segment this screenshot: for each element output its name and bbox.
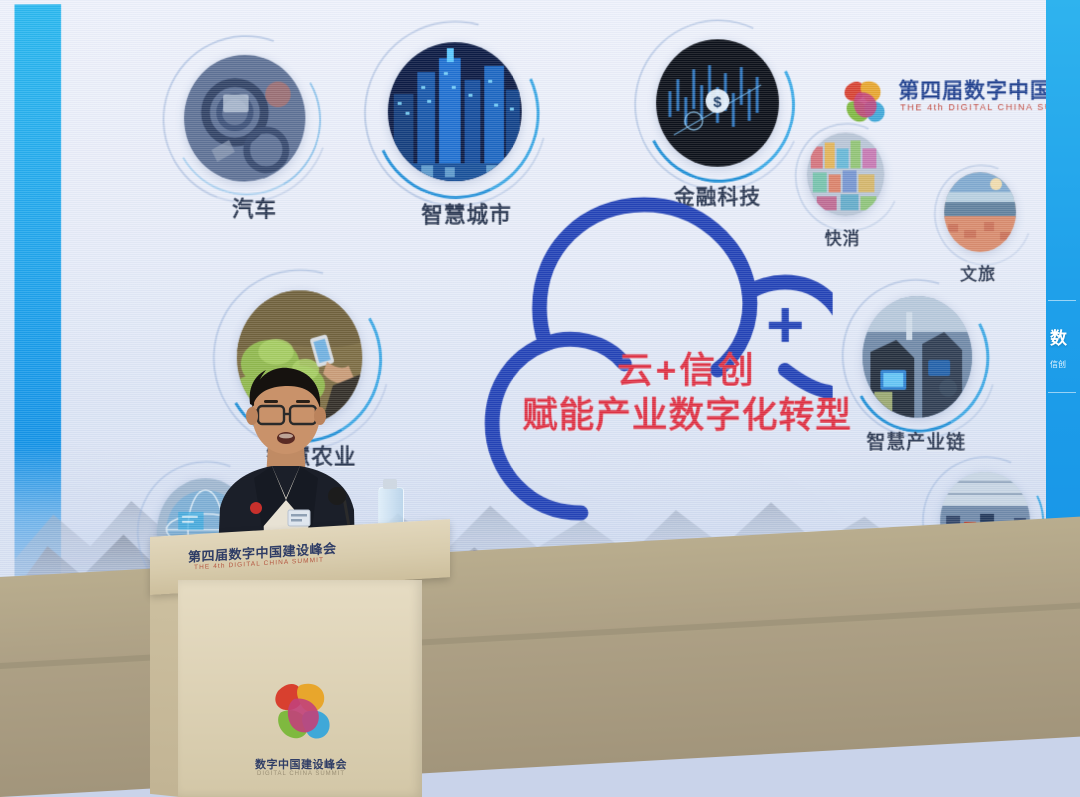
podium-side-panel bbox=[150, 569, 180, 797]
right-panel-subtitle: 信创 bbox=[1050, 360, 1066, 369]
podium-logo-en: DIGITAL CHINA SUMMIT bbox=[226, 771, 376, 777]
node-image-industry-chain bbox=[862, 296, 972, 418]
node-image-automotive bbox=[184, 55, 305, 182]
node-label: 汽车 bbox=[157, 191, 353, 223]
podium-brush-mark-icon bbox=[262, 672, 340, 750]
podium-body: 数字中国建设峰会 DIGITAL CHINA SUMMIT bbox=[178, 580, 422, 797]
right-panel-title: 数 bbox=[1050, 330, 1067, 349]
microphone-icon bbox=[328, 487, 346, 505]
podium-logo-cn: 数字中国建设峰会 bbox=[226, 756, 376, 772]
svg-text:$: $ bbox=[713, 95, 722, 111]
summit-logo-en-title: THE 4th DIGITAL CHINA SUMMIT bbox=[900, 102, 1046, 113]
divider bbox=[1048, 300, 1076, 301]
summit-brush-mark-icon bbox=[835, 73, 893, 131]
summit-logo-cn-title: 第四届数字中国建设峰会 bbox=[898, 74, 1046, 105]
headline-line-1: 云+信创 bbox=[504, 348, 870, 393]
headline-line-2: 赋能产业数字化转型 bbox=[504, 393, 870, 438]
headline-block: 云+信创 赋能产业数字化转型 bbox=[504, 348, 870, 438]
water-bottle-cap bbox=[383, 479, 397, 489]
podium: 第四届数字中国建设峰会 THE 4th DIGITAL CHINA SUMMIT… bbox=[150, 528, 450, 797]
conference-stage-scene: 汽车 bbox=[0, 0, 1080, 797]
node-image-culture-tourism bbox=[944, 172, 1016, 252]
node-image-fintech: $ bbox=[656, 39, 779, 167]
industry-node-automotive[interactable]: 汽车 bbox=[161, 33, 357, 261]
divider bbox=[1048, 392, 1076, 393]
node-image-smart-city bbox=[388, 42, 522, 181]
summit-logo: 第四届数字中国建设峰会 THE 4th DIGITAL CHINA SUMMIT bbox=[835, 72, 1046, 135]
industry-node-industry-chain[interactable]: 智慧产业链 bbox=[843, 278, 1046, 478]
